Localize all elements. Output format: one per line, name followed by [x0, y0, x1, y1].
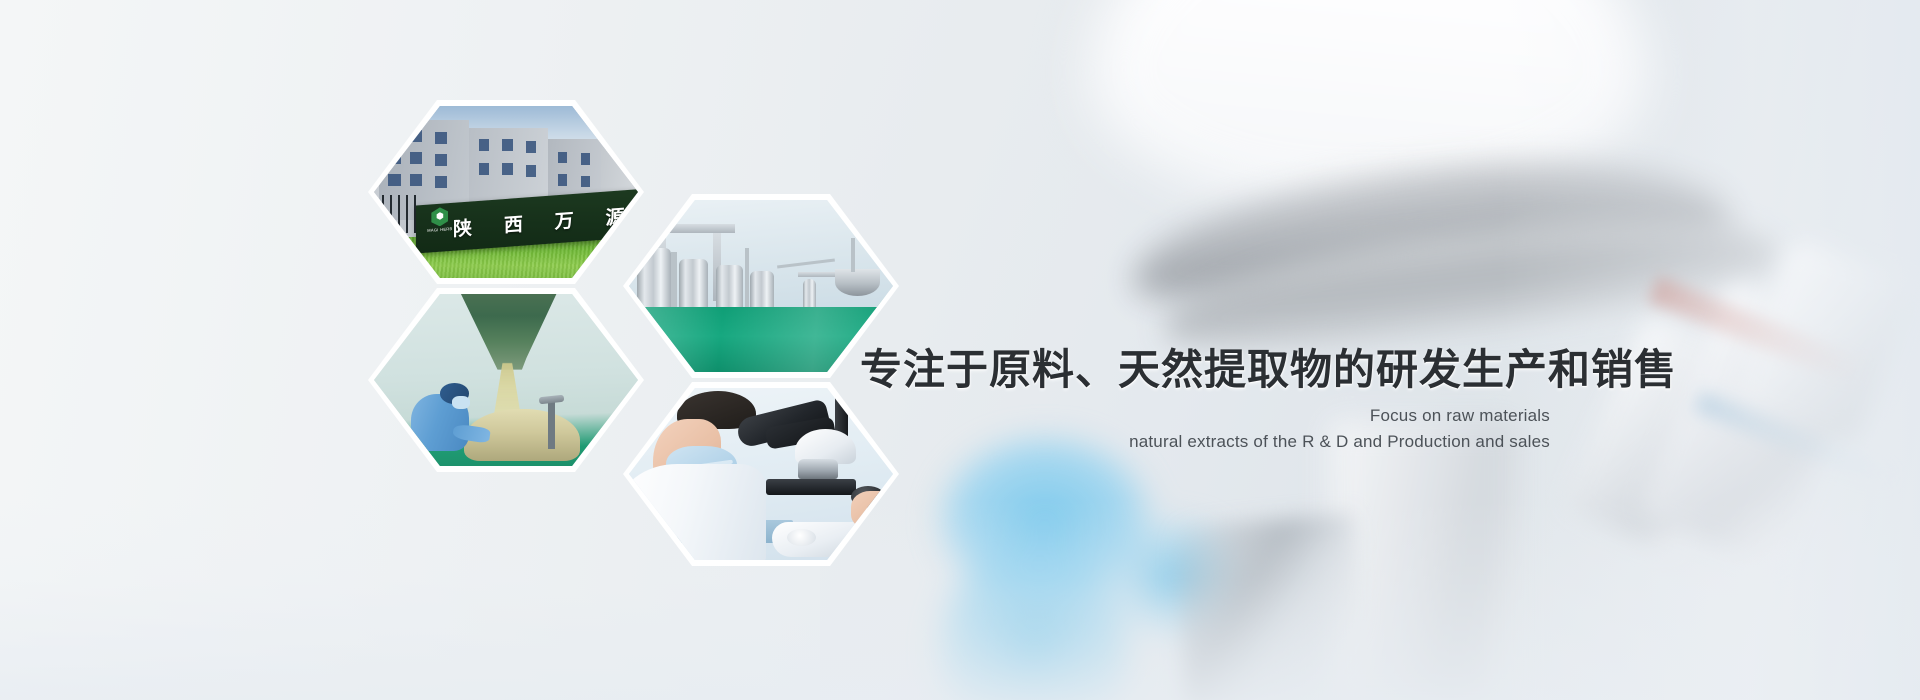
microscope-base	[772, 522, 867, 556]
sign-char-2: 西	[504, 209, 525, 238]
hex-photo-company-building[interactable]: ⬢ MAGI HERB 陕 西 万 源	[368, 100, 644, 284]
subtitle-english-line-1: Focus on raw materials	[860, 406, 1550, 426]
hex-photo-company-building-image: ⬢ MAGI HERB 陕 西 万 源	[374, 106, 638, 278]
extraction-tank-4	[750, 271, 774, 311]
pipe-1	[671, 252, 676, 307]
subtitle-english-line-2: natural extracts of the R & D and Produc…	[860, 432, 1550, 452]
discharge-photo-art	[374, 294, 638, 466]
sign-char-4: 源	[606, 202, 627, 231]
equipment-stand	[548, 401, 555, 449]
rack-platform	[798, 272, 835, 277]
mezzanine-platform	[645, 224, 735, 233]
microscope-objective-turret	[798, 459, 838, 480]
sign-char-3: 万	[555, 205, 576, 234]
hero-banner: ⬢ MAGI HERB 陕 西 万 源	[0, 0, 1920, 700]
extraction-tank-1	[637, 248, 671, 310]
hex-photo-production-workshop[interactable]	[623, 194, 899, 378]
hex-photo-extraction-discharge-image	[374, 294, 638, 466]
extraction-tank-2	[679, 259, 708, 311]
workshop-photo-art	[629, 200, 893, 372]
factory-photo-art: ⬢ MAGI HERB 陕 西 万 源	[374, 106, 638, 278]
hex-photo-extraction-discharge[interactable]	[368, 288, 644, 472]
lab-photo-art	[629, 388, 893, 560]
logo-hexagon-icon: ⬢	[431, 206, 448, 226]
perimeter-fence	[374, 195, 422, 233]
technician-hand	[851, 491, 893, 529]
logo-glyph: ⬢	[436, 212, 444, 222]
open-kettle	[835, 269, 880, 297]
hex-photo-laboratory-microscope[interactable]	[623, 382, 899, 566]
pipe-3	[851, 238, 855, 272]
logo-wordmark: MAGI HERB	[427, 226, 452, 233]
sign-char-1: 陕	[453, 213, 474, 242]
worker-face-mask	[452, 396, 470, 410]
microscope-stage	[766, 479, 856, 494]
small-vessel	[803, 279, 816, 310]
company-logo-badge: ⬢ MAGI HERB	[428, 206, 452, 234]
pipe-2	[745, 248, 749, 306]
extraction-tank-3	[716, 265, 742, 310]
hex-photo-production-workshop-image	[629, 200, 893, 372]
technician-lab-coat	[629, 464, 766, 560]
headline-chinese: 专注于原料、天然提取物的研发生产和销售	[860, 346, 1550, 393]
slogan-text-block: 专注于原料、天然提取物的研发生产和销售 Focus on raw materia…	[860, 346, 1550, 452]
hex-photo-laboratory-microscope-image	[629, 388, 893, 560]
green-epoxy-floor	[629, 307, 893, 372]
hexagon-photo-collage: ⬢ MAGI HERB 陕 西 万 源	[0, 0, 960, 700]
